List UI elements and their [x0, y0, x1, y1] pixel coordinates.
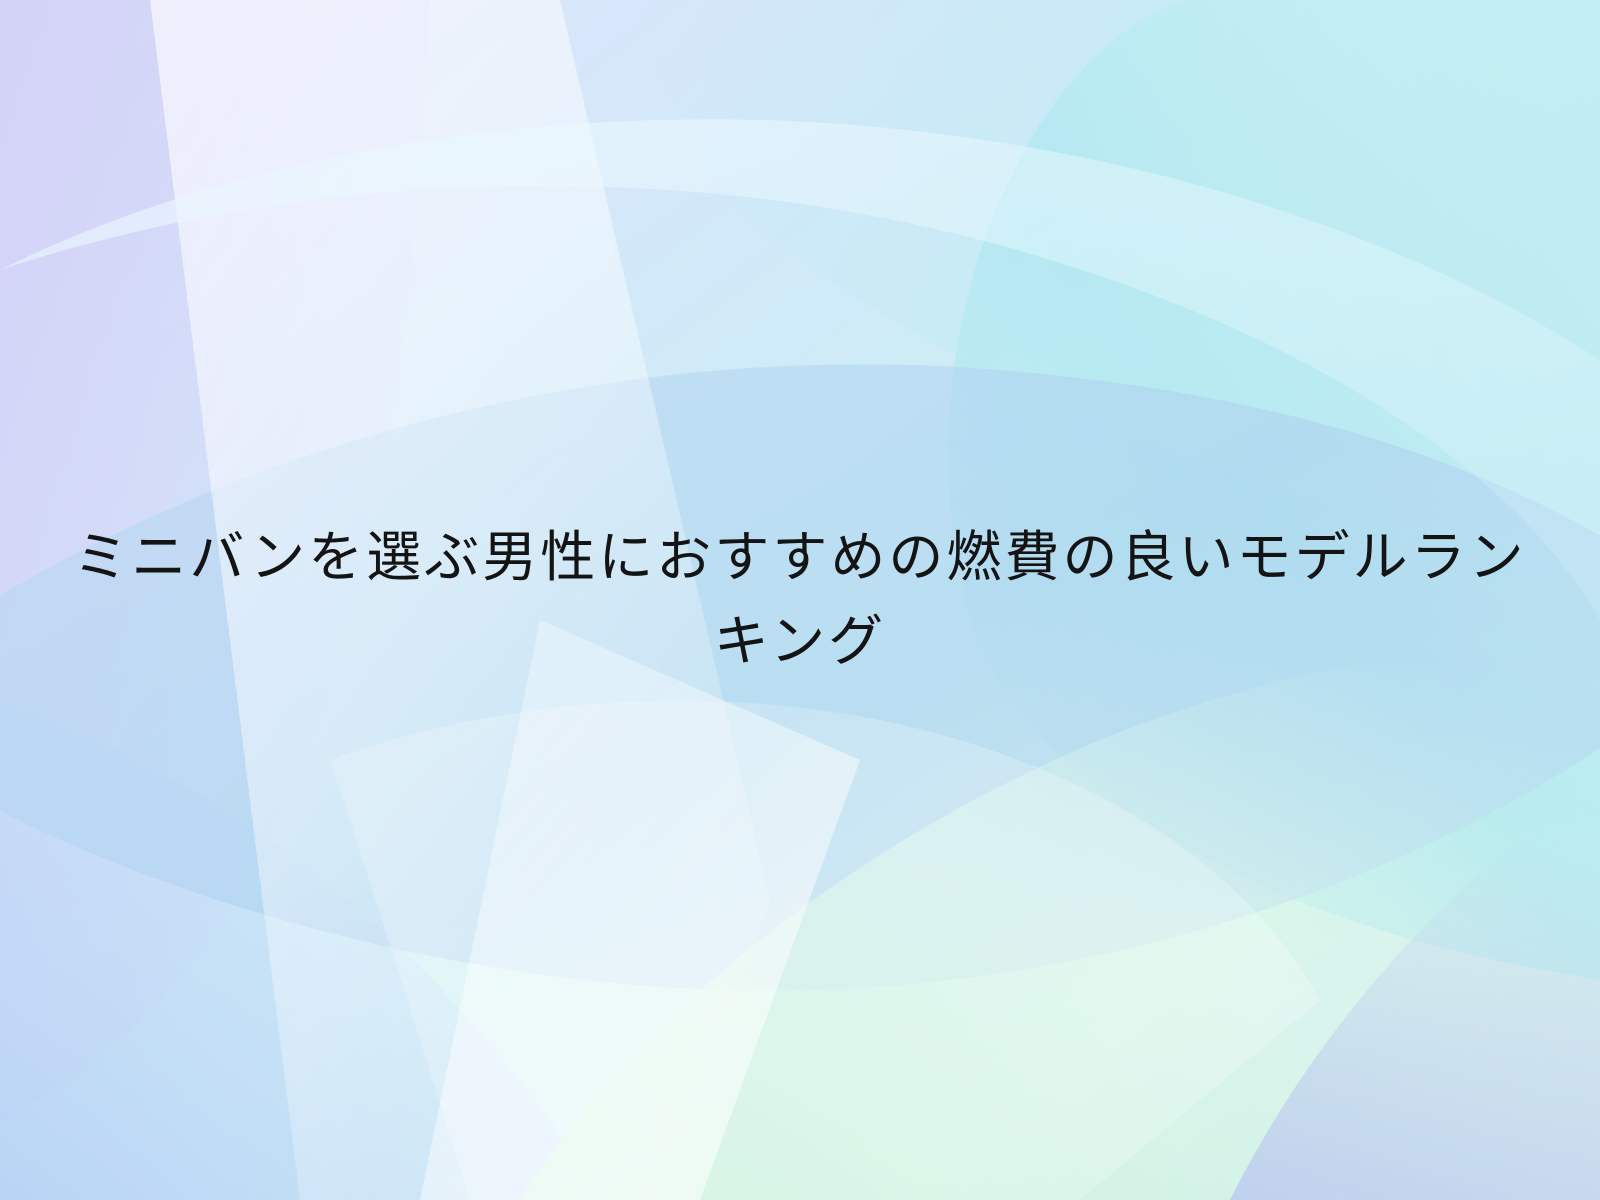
- abstract-background-artwork: [0, 0, 1600, 1200]
- slide-canvas: ミニバンを選ぶ男性におすすめの燃費の良いモデルランキング: [0, 0, 1600, 1200]
